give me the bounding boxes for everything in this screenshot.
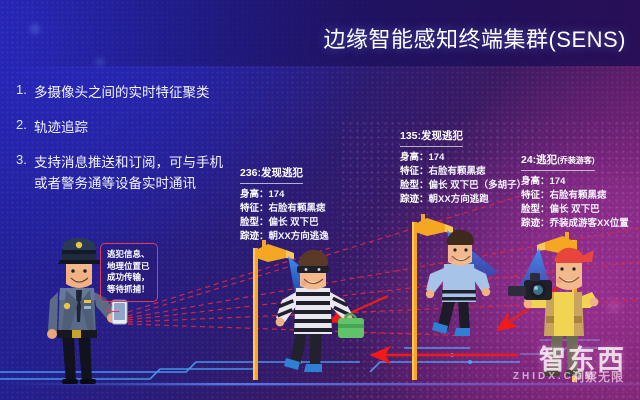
card-row-key: 脸型： [400, 180, 429, 191]
list-item-label: 轨迹追踪 [34, 117, 88, 138]
card-row: 脸型：偏长 双下巴 [521, 203, 629, 217]
speech-bubble: 逃犯信息、地理位置已成功传输，等待抓捕！ [100, 243, 158, 302]
card-row-key: 脸型： [521, 204, 550, 215]
card-row-key: 身高： [521, 176, 550, 187]
detection-card-24: 24:逃犯(乔装游客) 身高：174 特征：右脸有颗黑痣 脸型：偏长 双下巴 踪… [521, 150, 629, 231]
running-man-blue-shirt [426, 230, 490, 336]
card-row: 身高：174 [400, 151, 526, 165]
card-row: 踪迹：朝XX方向逃跑 [400, 193, 526, 207]
card-row: 踪迹：朝XX方向逃逸 [240, 230, 329, 244]
card-row-value: 朝XX方向逃逸 [269, 231, 329, 242]
circuit-traces [0, 348, 520, 379]
card-row-value: 右脸有颗黑痣 [550, 190, 607, 201]
card-row-value: 右脸有颗黑痣 [269, 203, 326, 214]
card-row: 身高：174 [240, 188, 329, 202]
detection-card-135: 135:发现逃犯 身高：174 特征：右脸有颗黑痣 脸型：偏长 双下巴（多胡子）… [400, 126, 526, 207]
card-heading: 135:发现逃犯 [400, 128, 463, 147]
speech-bubble-text: 逃犯信息、地理位置已成功传输，等待抓捕！ [107, 249, 150, 294]
card-row-key: 踪迹： [240, 231, 269, 242]
card-row-value: 偏长 双下巴 [269, 217, 319, 228]
list-item: 3. 支持消息推送和订阅，可与手机或者警务通等设备实时通讯 [8, 152, 234, 194]
card-row: 踪迹：乔装成游客XX位置 [521, 217, 629, 231]
card-row-value: 174 [269, 189, 285, 200]
card-row-key: 踪迹： [400, 194, 429, 205]
detection-card-236: 236:发现逃犯 身高：174 特征：右脸有颗黑痣 脸型：偏长 双下巴 踪迹：朝… [240, 163, 329, 244]
card-row-key: 身高： [240, 189, 269, 200]
card-row-key: 脸型： [240, 217, 269, 228]
card-row: 特征：右脸有颗黑痣 [240, 202, 329, 216]
card-row-value: 偏长 双下巴 [550, 204, 600, 215]
page-title: 边缘智能感知终端集群(SENS) [323, 26, 626, 54]
card-row: 特征：右脸有颗黑痣 [400, 165, 526, 179]
card-heading-main: 24:逃犯 [521, 154, 557, 166]
card-row-value: 174 [429, 152, 445, 163]
slide-canvas: 边缘智能感知终端集群(SENS) 1. 多摄像头之间的实时特征聚类 2. 轨迹追… [0, 0, 640, 400]
list-item-label: 多摄像头之间的实时特征聚类 [34, 82, 210, 103]
card-row-key: 特征： [240, 203, 269, 214]
feature-list: 1. 多摄像头之间的实时特征聚类 2. 轨迹追踪 3. 支持消息推送和订阅，可与… [8, 82, 234, 208]
card-row: 身高：174 [521, 175, 629, 189]
card-heading-sub: (乔装游客) [557, 156, 594, 165]
thief-striped-shirt-with-bag [276, 250, 364, 372]
list-item: 1. 多摄像头之间的实时特征聚类 [8, 82, 234, 103]
card-row-key: 特征： [521, 190, 550, 201]
card-row-key: 身高： [400, 152, 429, 163]
card-row-value: 乔装成游客XX位置 [550, 218, 629, 229]
list-item-number: 1. [8, 82, 34, 103]
list-item: 2. 轨迹追踪 [8, 117, 234, 138]
card-row: 脸型：偏长 双下巴 [240, 216, 329, 230]
card-row-key: 特征： [400, 166, 429, 177]
card-row: 特征：右脸有颗黑痣 [521, 189, 629, 203]
card-heading: 236:发现逃犯 [240, 165, 303, 184]
card-row-key: 踪迹： [521, 218, 550, 229]
card-heading: 24:逃犯(乔装游客) [521, 152, 595, 171]
card-row-value: 朝XX方向逃跑 [429, 194, 489, 205]
list-item-label: 支持消息推送和订阅，可与手机或者警务通等设备实时通讯 [34, 152, 234, 194]
card-row-value: 174 [550, 176, 566, 187]
watermark-domain: ZHIDX.COM [513, 371, 596, 382]
watermark: 智东西 洞察无限 ZHIDX.COM [482, 338, 632, 390]
list-item-number: 3. [8, 152, 34, 194]
card-row-value: 偏长 双下巴（多胡子） [429, 180, 527, 191]
card-row-value: 右脸有颗黑痣 [429, 166, 486, 177]
card-row: 脸型：偏长 双下巴（多胡子） [400, 179, 526, 193]
list-item-number: 2. [8, 117, 34, 138]
